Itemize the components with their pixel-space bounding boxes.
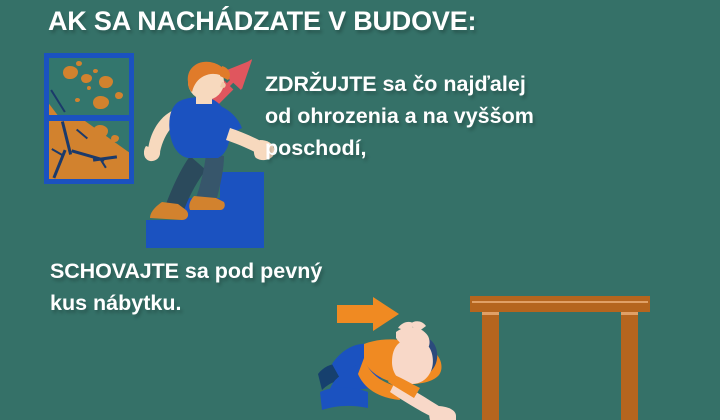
window-frame (44, 53, 134, 184)
instruction-line-2: od ohrozenia a na vyššom (265, 100, 665, 132)
instruction-line-1: SCHOVAJTE sa pod pevný (50, 255, 390, 287)
page-title: AK SA NACHÁDZATE V BUDOVE: (48, 6, 476, 37)
earthquake-safety-poster: AK SA NACHÁDZATE V BUDOVE: (0, 0, 720, 420)
person-climbing-stairs-illustration (144, 58, 274, 238)
instruction-line-1: ZDRŽUJTE sa čo najďalej (265, 68, 665, 100)
table-leg-left (482, 312, 499, 420)
window-with-falling-rubble-icon (44, 53, 134, 184)
table-top-highlight (472, 301, 648, 303)
table-leg-right-highlight (621, 312, 638, 315)
instruction-line-1-rest: sa čo najďalej (376, 72, 525, 96)
instruction-lead-word: SCHOVAJTE (50, 259, 179, 283)
instruction-line-1-rest: sa pod pevný (179, 259, 322, 283)
wooden-table-illustration (470, 296, 650, 420)
table-top (470, 296, 650, 312)
table-leg-right (621, 312, 638, 420)
instruction-stay-away: ZDRŽUJTE sa čo najďalej od ohrozenia a n… (265, 68, 665, 164)
table-leg-left-highlight (482, 312, 499, 315)
instruction-lead-word: ZDRŽUJTE (265, 72, 376, 96)
instruction-line-3: poschodí, (265, 132, 665, 164)
